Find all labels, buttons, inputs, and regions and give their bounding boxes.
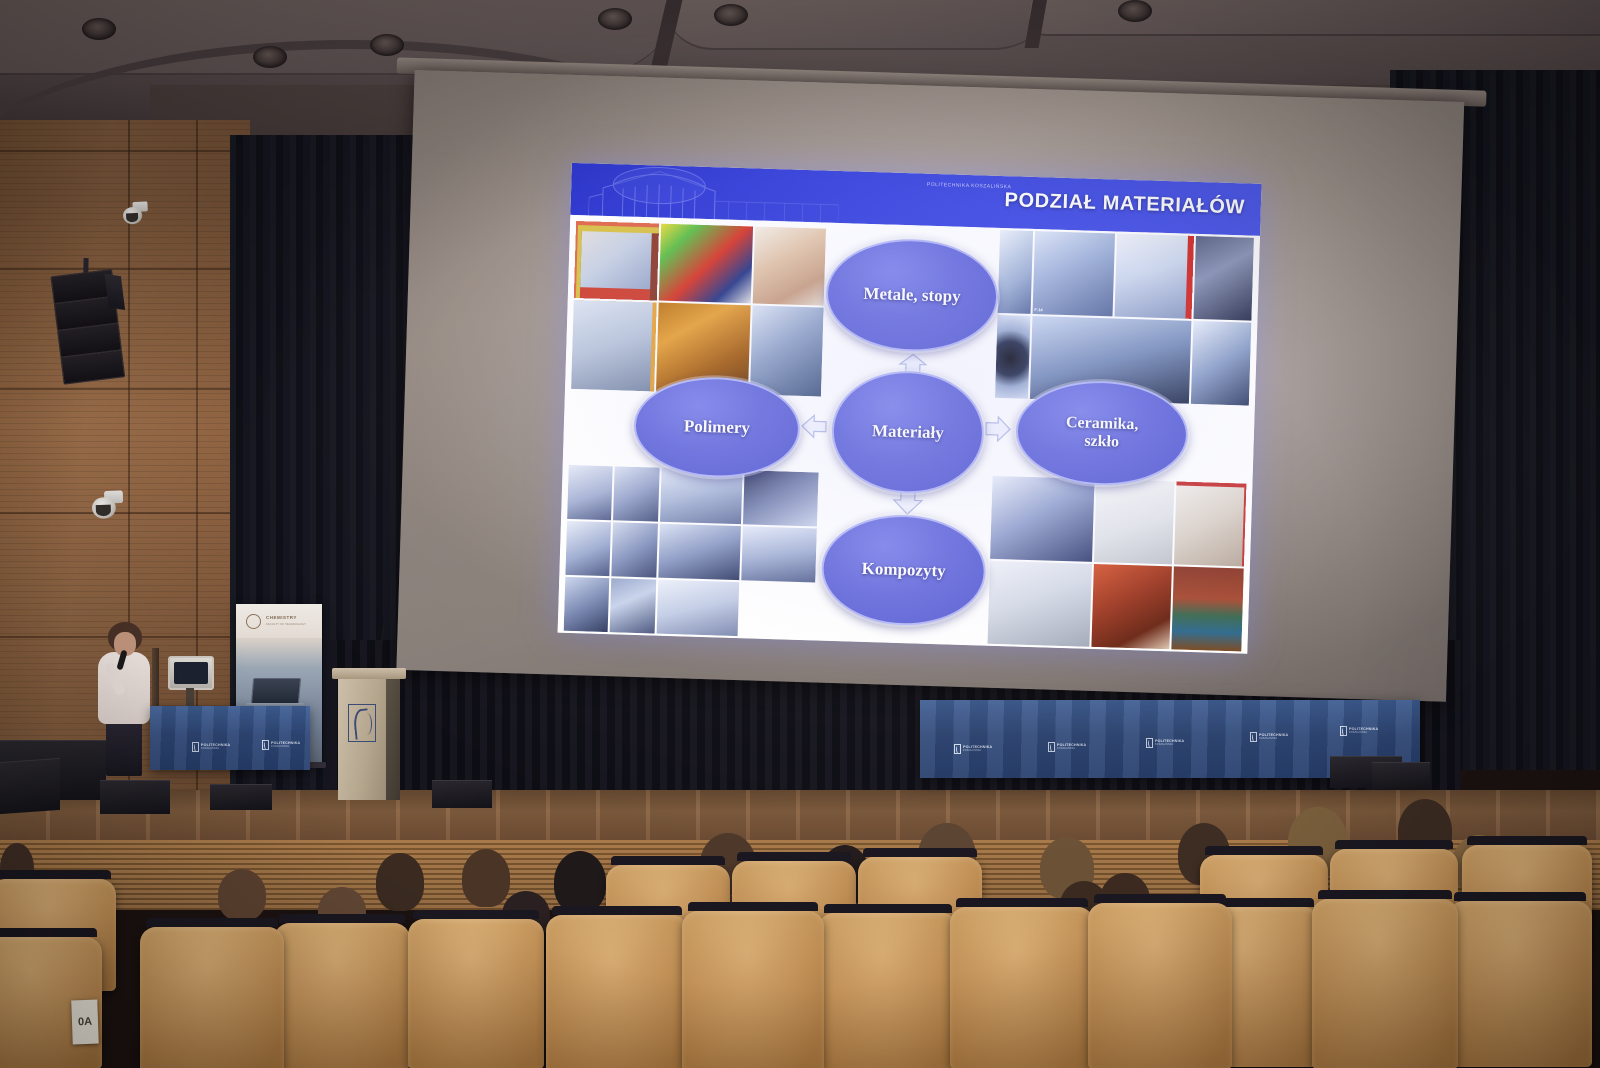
pk-logo-icon [1146,738,1153,748]
tile-carbon-helmet [564,577,610,632]
seat-headrest [1094,894,1226,903]
stage-monitor-5 [432,780,492,808]
node-ceramics-line2: szkło [1084,433,1119,451]
av-table-left: POLITECHNIKA KOSZALIŃSKA POLITECHNIKA KO… [150,706,310,770]
downlight-5 [714,4,748,26]
monitor-stand [186,688,194,706]
table-logo-line1: POLITECHNIKA [1349,727,1378,731]
slide-header-logo: POLITECHNIKA KOSZALIŃSKA [927,182,1012,191]
tile-satellite-orbit [610,578,656,633]
audience-head [376,853,424,911]
tile-engine-brake-parts [1092,564,1172,649]
rollup-banner-subheading: FACULTY OF TECHNOLOGY [266,622,306,626]
seat-headrest [688,902,819,911]
table-logo-line1: POLITECHNIKA [963,745,992,749]
tile-prosthetic-arm [613,466,659,521]
downlight-6 [1118,0,1152,22]
stage-monitor-2 [0,758,60,814]
ceramics-glass-collage [987,476,1246,652]
downlight-1 [82,18,116,40]
screen-surface: POLITECHNIKA KOSZALIŃSKA PODZIAŁ MATERIA… [396,70,1464,702]
f14-label: F-14 [1034,307,1042,312]
seat[interactable] [546,915,688,1068]
stage-monitor-7 [1372,762,1430,790]
rollup-logo-icon [246,614,261,629]
seat-headrest [1335,840,1453,849]
table-logo-line2: KOSZALIŃSKA [1259,738,1288,741]
confidence-monitor [168,656,214,690]
podium [338,668,400,800]
slide-body: F-14 [558,215,1260,654]
wall-seam-2 [0,268,250,270]
metals-collage: F-14 [995,230,1254,406]
right-arrow-icon [984,414,1013,445]
downlight-4 [598,8,632,30]
seat-headrest [737,852,851,861]
pk-logo-icon [262,740,269,750]
presentation-slide: POLITECHNIKA KOSZALIŃSKA PODZIAŁ MATERIA… [558,163,1262,654]
stage-monitor-3 [100,780,170,814]
table-logo-line2: KOSZALIŃSKA [963,750,992,753]
table-logo-line1: POLITECHNIKA [1259,733,1288,737]
table-logo-line2: KOSZALIŃSKA [1349,732,1378,735]
tile-naval-ship [741,526,817,582]
table-logo-line1: POLITECHNIKA [271,741,300,745]
seat[interactable] [274,923,410,1068]
seat[interactable] [1448,901,1592,1067]
stage-monitor-4 [210,784,272,810]
tile-prosthetic-joint [565,521,611,576]
seat-headrest [279,914,404,923]
node-center-label: Materiały [872,422,944,443]
tile-suspension-springs [1193,236,1254,321]
tile-prosthetic-leg [567,465,613,520]
tile-racing-bicycle [656,580,739,636]
table-logo: POLITECHNIKA KOSZALIŃSKA [1146,738,1184,748]
table-logo: POLITECHNIKA KOSZALIŃSKA [192,742,230,752]
pk-logo-icon [1048,742,1055,752]
node-metals-label: Metale, stopy [863,284,961,306]
left-arrow-icon [800,412,829,441]
seat-headrest [413,910,538,919]
audience-seating [0,845,1600,1068]
wall-seam-4 [0,512,250,514]
seat[interactable] [1088,903,1232,1068]
tile-bathroom-sanitaryware [987,561,1092,647]
tile-packaged-food [574,221,660,301]
tile-machine-tool [1115,234,1194,319]
node-ceramics-label: Ceramika, szkło [1065,414,1138,452]
seat-headrest [1205,846,1323,855]
seat[interactable] [408,919,544,1068]
table-logo: POLITECHNIKA KOSZALIŃSKA [954,744,992,754]
tile-jet-engine [995,315,1030,399]
tile-plastic-toys [659,224,753,304]
seat-headrest [552,906,683,915]
pk-logo-icon [192,742,199,752]
wall-seam-1 [0,150,250,152]
audience-head [462,849,510,907]
table-logo: POLITECHNIKA KOSZALIŃSKA [1340,726,1378,736]
ceiling-panel-center [653,0,1066,50]
table-logo-line1: POLITECHNIKA [1057,743,1086,747]
seat-headrest [863,848,977,857]
tile-aircraft-tail [998,230,1033,314]
downlight-2 [253,46,287,68]
seat-headrest [1467,836,1587,845]
podium-top-surface [332,668,406,679]
tile-bone-implants [1174,481,1246,566]
ceiling-panel-right [1026,0,1600,36]
rollup-banner-heading: CHEMISTRY [266,615,297,620]
node-composites: Kompozyty [820,513,987,628]
seat-headrest [956,898,1088,907]
node-ceramics-line1: Ceramika, [1066,414,1139,433]
pk-logo-icon [1250,732,1257,742]
node-polymers-label: Polimery [684,417,751,438]
laptop-lid [251,678,301,704]
table-logo-line2: KOSZALIŃSKA [201,748,230,751]
pk-emblem-icon [348,704,376,742]
tile-coverall-suit [750,306,824,397]
projection-screen: POLITECHNIKA KOSZALIŃSKA PODZIAŁ MATERIA… [396,60,1474,712]
table-logo: POLITECHNIKA KOSZALIŃSKA [1048,742,1086,752]
seat[interactable] [140,927,284,1068]
seat-headrest [0,870,111,879]
ptz-dome-camera-lower [90,490,124,521]
node-composites-label: Kompozyty [861,559,946,581]
downlight-3 [370,34,404,56]
polymers-collage [571,221,826,397]
table-logo: POLITECHNIKA KOSZALIŃSKA [1250,732,1288,742]
seat[interactable] [818,913,958,1068]
tile-satellite-assembly [743,470,819,526]
tile-pills-capsules [752,226,826,305]
table-logo-line1: POLITECHNIKA [201,743,230,747]
podium-body [338,678,386,800]
ptz-dome-camera-upper [121,201,148,226]
monitor-screen [174,662,208,684]
seat[interactable] [682,911,824,1068]
tile-protective-clothing [571,300,657,391]
rollup-banner-header: CHEMISTRY FACULTY OF TECHNOLOGY [236,604,322,638]
audience-head [554,851,606,913]
slide-title: PODZIAŁ MATERIAŁÓW [1004,189,1245,219]
pk-logo-icon [954,744,961,754]
audience-head [218,869,266,921]
presenter-legs [106,720,142,776]
node-metals-alloys: Metale, stopy [824,237,999,354]
tile-human-skeleton [1094,479,1174,564]
table-logo-line2: KOSZALIŃSKA [1155,744,1184,747]
tile-metal-joints [1191,321,1252,406]
composites-collage [564,465,819,639]
tile-space-shuttle [658,524,741,580]
seat[interactable] [1312,899,1458,1068]
table-logo: POLITECHNIKA KOSZALIŃSKA [262,740,300,750]
podium-side-panel [385,676,400,800]
seat-headrest [611,856,725,865]
seat-headrest [1318,890,1452,899]
tile-ceramic-components [990,476,1095,562]
tile-prosthetic-hand [612,522,658,577]
seat[interactable] [950,907,1094,1068]
seat-headrest [146,918,278,927]
tile-f14-fighter-jet: F-14 [1032,231,1115,316]
seat-headrest [824,904,953,913]
table-logo-line2: KOSZALIŃSKA [271,746,300,749]
table-logo-line1: POLITECHNIKA [1155,739,1184,743]
pk-logo-icon [1340,726,1347,736]
row-marker: 0A [71,1000,99,1045]
lecture-hall-scene: POLITECHNIKA KOSZALIŃSKA PODZIAŁ MATERIA… [0,0,1600,1068]
line-array-module-4 [60,349,125,384]
seat-headrest [0,928,97,937]
line-array-speaker [50,268,131,403]
seat-headrest [1454,892,1586,901]
table-logo-line2: KOSZALIŃSKA [1057,748,1086,751]
node-materials-center: Materiały [830,369,986,496]
tile-brick-and-bottles [1172,566,1244,651]
